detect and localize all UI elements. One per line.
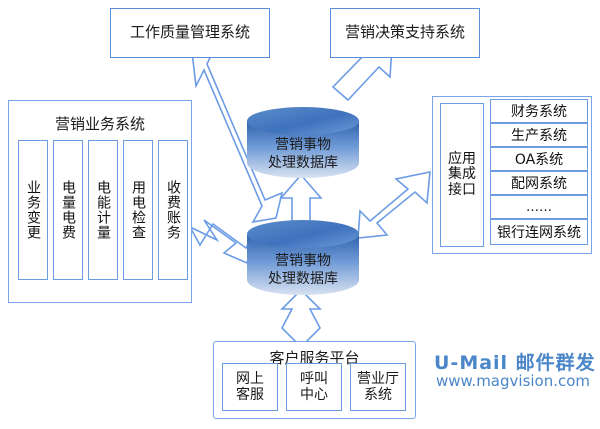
module-power-inspection[interactable]: 用电检查	[123, 140, 153, 280]
module-billing-accounting[interactable]: 收费账务	[158, 140, 188, 280]
box-decision-support-system[interactable]: 营销决策支持系统	[330, 8, 480, 58]
system-distribution-network[interactable]: 配网系统	[490, 171, 588, 195]
arrow-db-to-app-interface	[358, 172, 430, 238]
database-lower[interactable]: 营销事物 处理数据库	[246, 219, 360, 295]
service-call-center-line1: 呼叫	[300, 371, 328, 387]
diagram-canvas: 工作质量管理系统 营销决策支持系统 营销业务系统 业务变更 电量电费 电能计量 …	[0, 0, 600, 429]
module-business-change-label: 业务变更	[23, 180, 43, 240]
system-production[interactable]: 生产系统	[490, 123, 588, 147]
box-quality-management-system[interactable]: 工作质量管理系统	[110, 8, 270, 58]
database-upper[interactable]: 营销事物 处理数据库	[246, 106, 360, 178]
database-upper-icon	[246, 106, 360, 178]
module-energy-metering[interactable]: 电能计量	[88, 140, 118, 280]
service-call-center-line2: 中心	[300, 387, 328, 403]
service-online-support-line2: 客服	[236, 387, 264, 403]
system-production-label: 生产系统	[511, 125, 567, 145]
system-distribution-network-label: 配网系统	[511, 173, 567, 193]
module-electricity-fee-label: 电量电费	[58, 180, 78, 240]
module-energy-metering-label: 电能计量	[93, 180, 113, 240]
module-power-inspection-label: 用电检查	[128, 180, 148, 240]
database-lower-icon	[246, 219, 360, 295]
service-online-support[interactable]: 网上 客服	[222, 363, 278, 411]
system-finance[interactable]: 财务系统	[490, 99, 588, 123]
service-online-support-line1: 网上	[236, 371, 264, 387]
service-call-center-label: 呼叫 中心	[300, 371, 328, 403]
system-oa[interactable]: OA系统	[490, 147, 588, 171]
system-ellipsis: ……	[490, 195, 588, 219]
system-bank-network-label: 银行连网系统	[497, 222, 581, 242]
module-electricity-fee[interactable]: 电量电费	[53, 140, 83, 280]
panel-marketing-business-system-title: 营销业务系统	[9, 113, 191, 134]
service-business-hall-label: 营业厅 系统	[357, 371, 399, 403]
service-business-hall-line1: 营业厅	[357, 371, 399, 387]
app-integration-interface[interactable]: 应用集成接口	[440, 103, 484, 247]
system-ellipsis-label: ……	[526, 200, 552, 215]
box-quality-management-system-label: 工作质量管理系统	[130, 24, 250, 41]
service-call-center[interactable]: 呼叫 中心	[286, 363, 342, 411]
watermark-url: www.magvision.com	[436, 372, 590, 390]
app-integration-interface-label: 应用集成接口	[445, 152, 479, 198]
system-finance-label: 财务系统	[511, 101, 567, 121]
box-decision-support-system-label: 营销决策支持系统	[345, 24, 465, 41]
arrow-lower-db-to-upper-db	[281, 175, 321, 222]
module-business-change[interactable]: 业务变更	[18, 140, 48, 280]
arrow-db-to-service-platform	[282, 290, 320, 347]
system-oa-label: OA系统	[515, 149, 563, 169]
system-bank-network[interactable]: 银行连网系统	[490, 219, 588, 245]
service-online-support-label: 网上 客服	[236, 371, 264, 403]
module-billing-accounting-label: 收费账务	[163, 180, 183, 240]
service-business-hall[interactable]: 营业厅 系统	[350, 363, 406, 411]
service-business-hall-line2: 系统	[357, 387, 399, 403]
watermark-brand: U-Mail 邮件群发	[434, 348, 596, 375]
